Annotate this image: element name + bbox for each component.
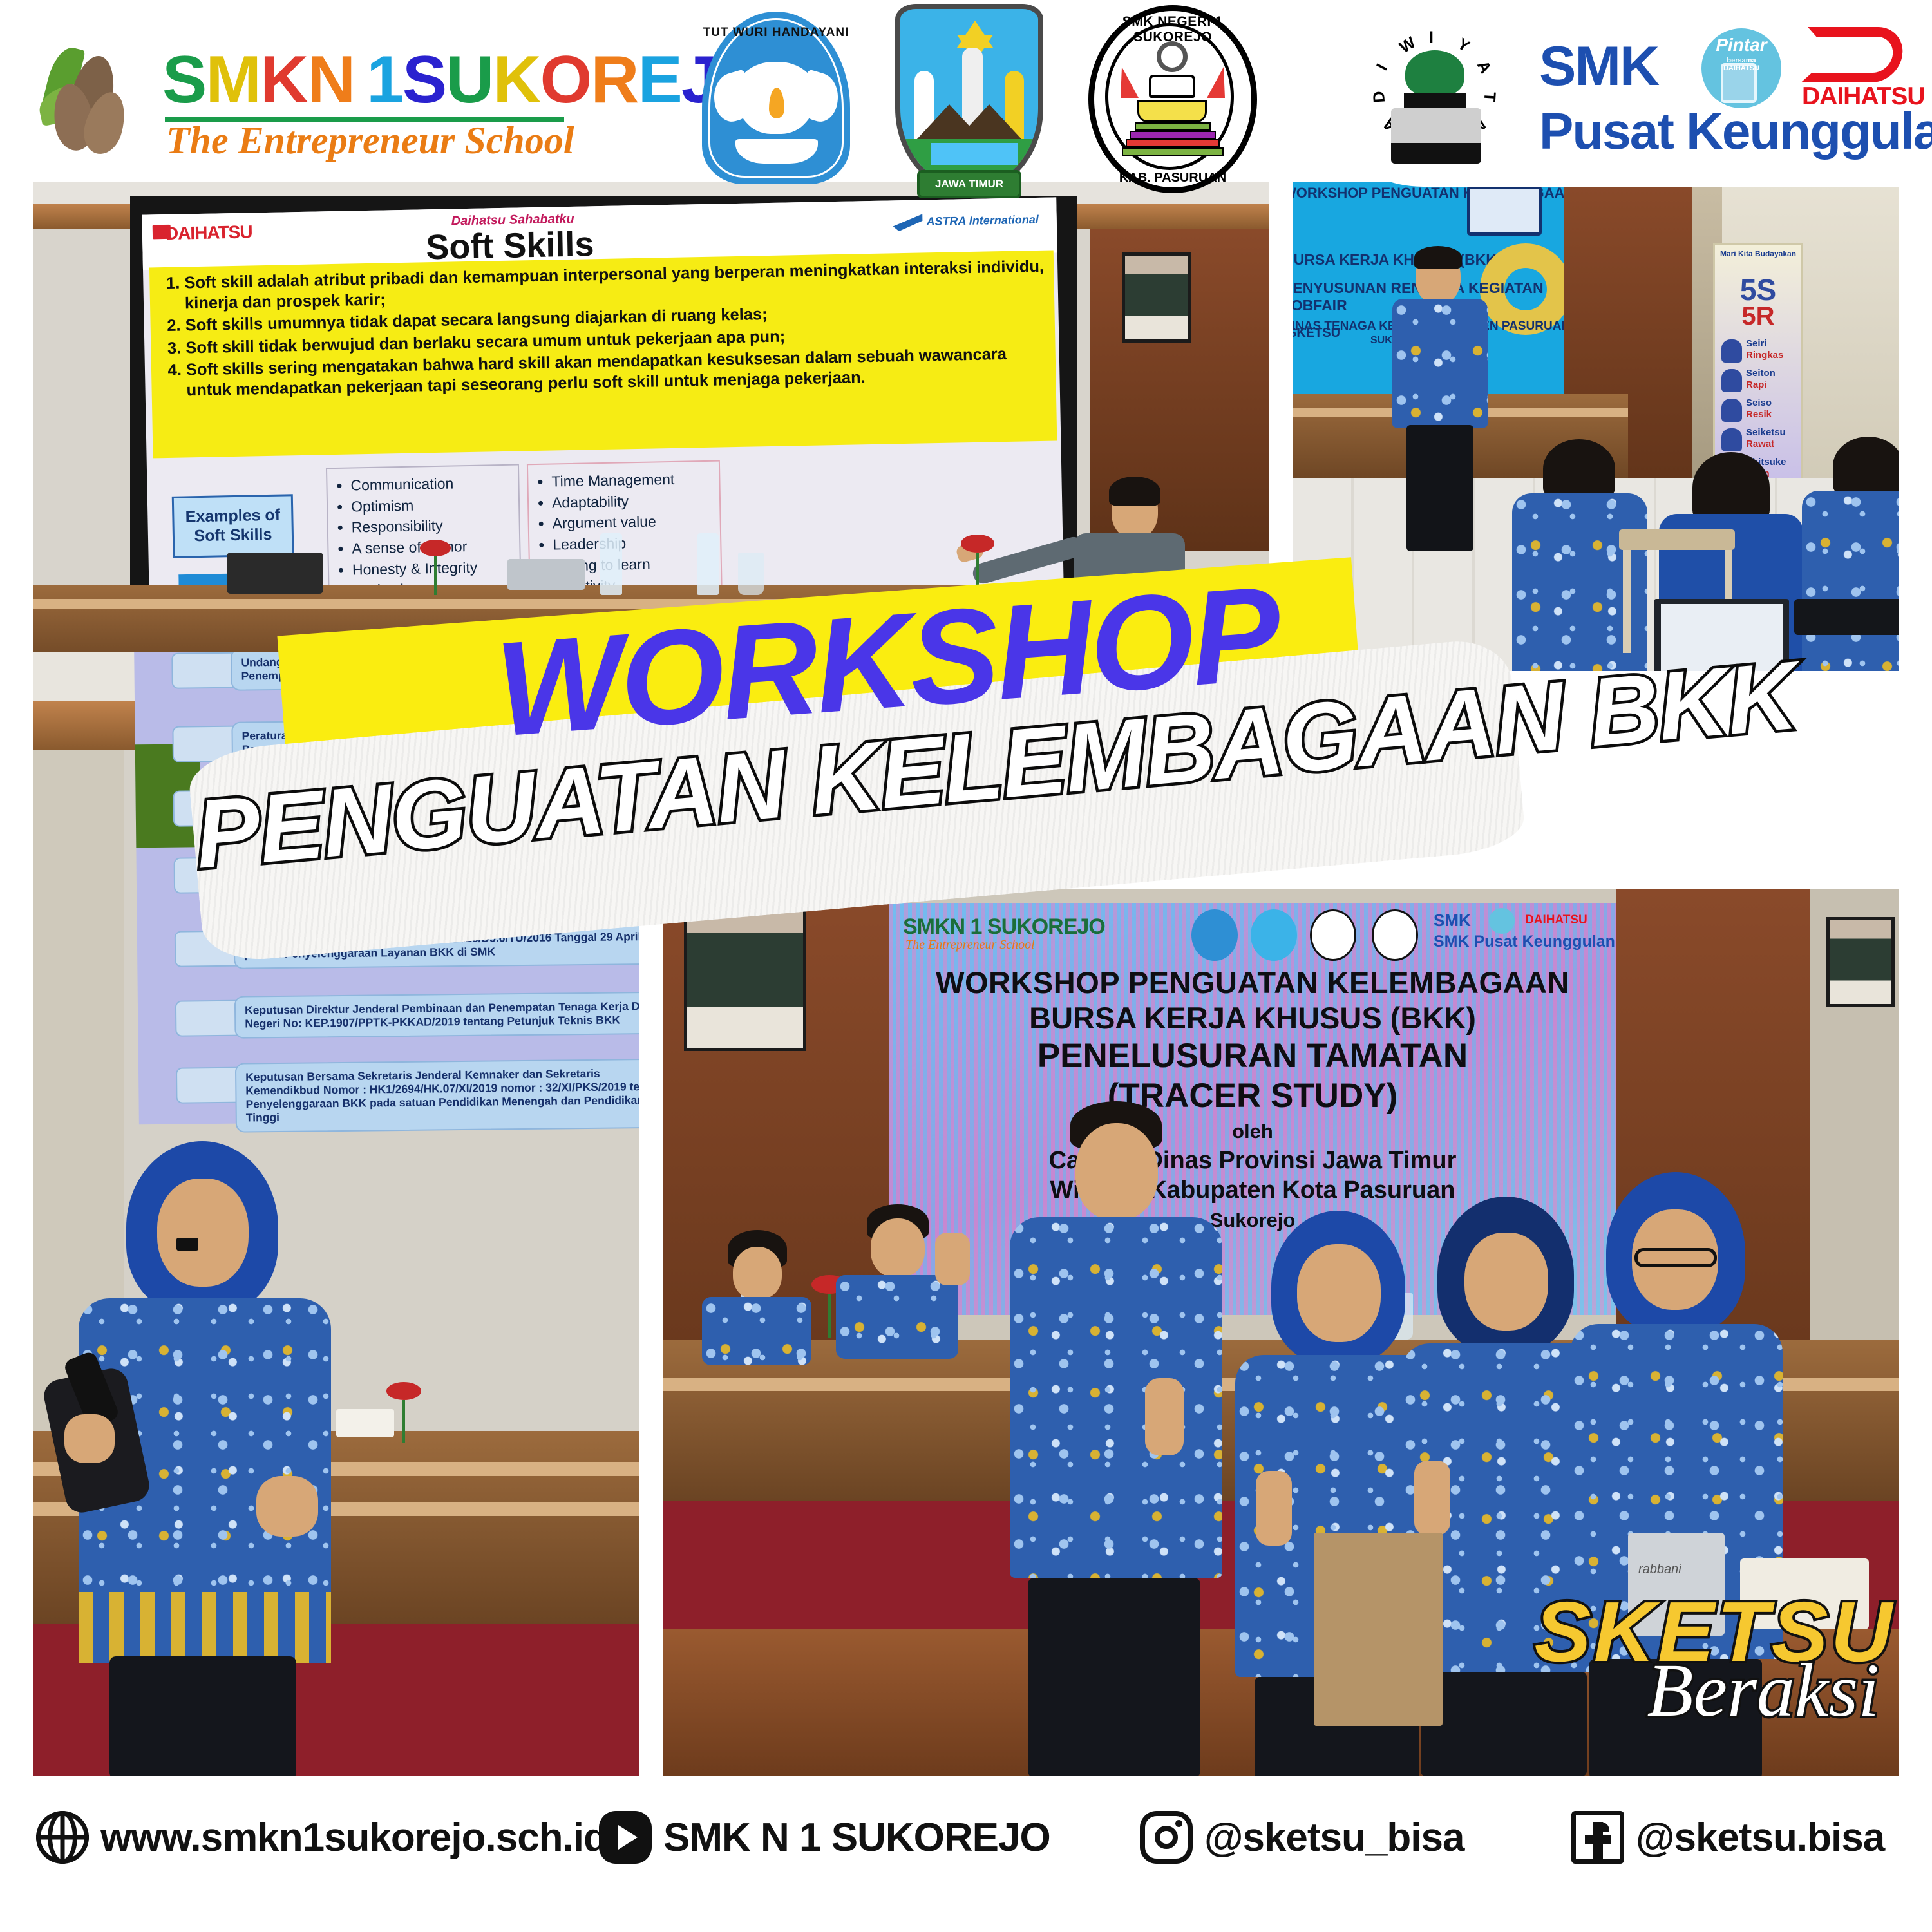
banner-5s-5r: Mari Kita Budayakan 5S 5R SeiriRingkas S… (1713, 243, 1803, 482)
slide-smk-pk: SMK Pusat Keunggulan (1434, 933, 1615, 951)
facebook-label: @sketsu.bisa (1636, 1815, 1884, 1861)
examples-label: Examples of Soft Skills (172, 494, 294, 558)
pusat-keunggulan-label: Pusat Keunggulan (1539, 102, 1932, 161)
cocoa-pod-icon (39, 44, 151, 150)
adiwiyata-emblem: ADIWIYATA (1365, 26, 1504, 174)
book-icon (1391, 108, 1481, 164)
footer-instagram[interactable]: @sketsu_bisa (1140, 1811, 1464, 1864)
slide-school-name: SMKN 1 SUKOREJO (903, 914, 1105, 940)
instagram-icon (1140, 1811, 1193, 1864)
pintar-logo: Pintar bersama DAIHATSU (1701, 28, 1781, 108)
photo-jobfair-session: WORKSHOP PENGUATAN KELEMBAGAAN BURSA KER… (1293, 182, 1899, 671)
footer-website[interactable]: www.smkn1sukorejo.sch.id (36, 1811, 607, 1864)
official-male (998, 1101, 1230, 1776)
slide-title-1: WORKSHOP PENGUATAN KELEMBAGAAN (889, 965, 1616, 1000)
poster-root: DAIHATSU Daihatsu Sahabatku Soft Skills … (0, 0, 1932, 1932)
astra-logo-text: ASTRA International (893, 212, 1039, 231)
slide-title-3: PENELUSURAN TAMATAN (889, 1036, 1616, 1077)
school-name-wordmark: SMKN 1SUKOREJO (162, 46, 768, 113)
globe-icon (36, 1811, 89, 1864)
slide-bullet-block: Soft skill adalah atribut pribadi dan ke… (149, 251, 1057, 459)
school-logo: SMKN 1SUKOREJO The Entrepreneur School (39, 37, 638, 160)
root-icon (1404, 93, 1466, 133)
website-label: smkn1sukorejo.sch.id (201, 1815, 607, 1860)
seated-attendee (1506, 439, 1654, 671)
daihatsu-logo-text: DAIHATSU (166, 222, 252, 244)
female-speaker (57, 1141, 353, 1776)
smk-pusat-keunggulan-logo: SMK Pintar bersama DAIHATSU DAIHATSU Pus… (1539, 19, 1906, 174)
seated-person (836, 1204, 958, 1359)
jawa-timur-emblem: JAWA TIMUR (895, 4, 1043, 192)
youtube-icon (599, 1811, 652, 1864)
www-prefix: www (100, 1815, 190, 1860)
smk-negeri-1-sukorejo-emblem: SMK NEGERI 1 SUKOREJO KAB. PASURUAN (1088, 5, 1257, 193)
standing-speaker (1387, 250, 1490, 553)
regulation-card: Keputusan Bersama Sekretaris Jenderal Ke… (235, 1058, 639, 1132)
tree-icon (1405, 50, 1464, 97)
instagram-label: @sketsu_bisa (1204, 1815, 1464, 1861)
smk-label: SMK (1539, 35, 1658, 99)
regulation-card: Keputusan Direktur Jenderal Pembinaan da… (234, 991, 639, 1038)
school-tagline: The Entrepreneur School (166, 118, 574, 163)
facebook-icon (1571, 1811, 1624, 1864)
screen-watermark: SKETSU (1293, 326, 1340, 341)
youtube-label: SMK N 1 SUKOREJO (663, 1815, 1050, 1861)
sketsu-watermark: SKETSU Beraksi (1535, 1589, 1895, 1728)
slide-title-2: BURSA KERJA KHUSUS (BKK) (889, 1000, 1616, 1036)
poster-footer: www.smkn1sukorejo.sch.id SMK N 1 SUKOREJ… (0, 1797, 1932, 1932)
footer-youtube[interactable]: SMK N 1 SUKOREJO (599, 1811, 1050, 1864)
poster-header: SMKN 1SUKOREJO The Entrepreneur School T… (0, 0, 1932, 193)
souvenir-brand: rabbani (1638, 1562, 1681, 1577)
computer-icon (1467, 185, 1542, 236)
slide-school-tagline: The Entrepreneur School (905, 938, 1035, 952)
footer-facebook[interactable]: @sketsu.bisa (1571, 1811, 1884, 1864)
seated-attendee (1802, 437, 1899, 671)
daihatsu-logo: DAIHATSU (1802, 27, 1905, 111)
seated-person (702, 1230, 811, 1359)
tut-wuri-handayani-emblem: TUT WURI HANDAYANI (702, 12, 850, 184)
